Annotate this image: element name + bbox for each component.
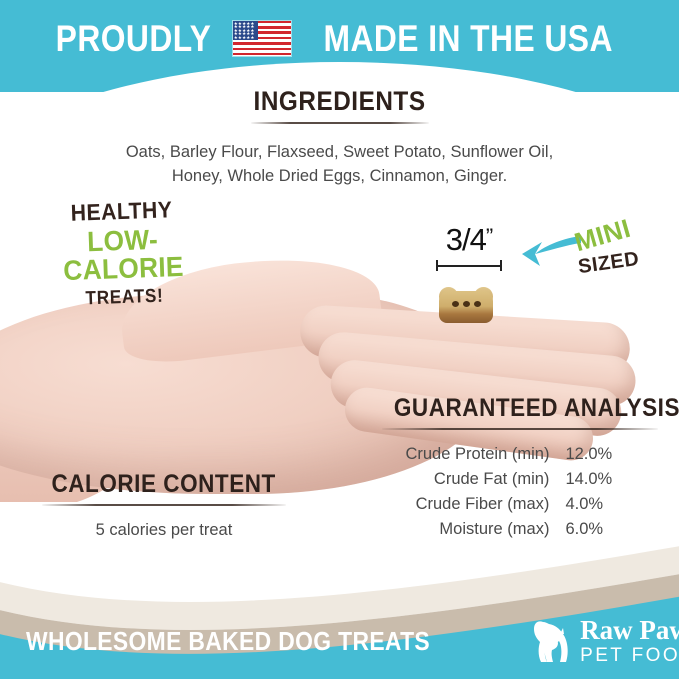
healthy-line-2: LOW-CALORIE — [33, 224, 213, 286]
measurement-value: 3/4” — [432, 224, 506, 255]
analysis-label: Moisture (max) — [378, 517, 565, 542]
inch-mark: ” — [486, 224, 492, 249]
table-row: Moisture (max) 6.0% — [378, 517, 662, 542]
analysis-label: Crude Fat (min) — [378, 467, 565, 492]
brand-name-line: Raw Paws® — [580, 617, 679, 644]
brand-name: Raw Paws — [580, 615, 679, 645]
table-row: Crude Fiber (max) 4.0% — [378, 492, 662, 517]
brand-subtitle: PET FOOD — [580, 645, 679, 666]
ingredients-line-1: Oats, Barley Flour, Flaxseed, Sweet Pota… — [58, 140, 621, 164]
product-info-panel: PROUDLY ★★★★★★★★★★★★★★★★★★★★★★★★★★★★★★★★… — [0, 0, 679, 679]
analysis-value: 14.0% — [565, 467, 662, 492]
analysis-value: 6.0% — [565, 517, 662, 542]
curved-arrow-left-icon — [520, 234, 582, 268]
header-content: PROUDLY ★★★★★★★★★★★★★★★★★★★★★★★★★★★★★★★★… — [0, 12, 679, 64]
header-banner: PROUDLY ★★★★★★★★★★★★★★★★★★★★★★★★★★★★★★★★… — [0, 0, 679, 92]
ingredients-line-2: Honey, Whole Dried Eggs, Cinnamon, Ginge… — [58, 164, 621, 188]
mini-bone-dog-treat — [439, 287, 493, 327]
calorie-content-underline — [42, 504, 286, 506]
header-text-left: PROUDLY — [55, 20, 211, 57]
footer-content: WHOLESOME BAKED DOG TREATS Raw Paws® PET… — [0, 612, 679, 670]
analysis-label: Crude Protein (min) — [378, 442, 565, 467]
guaranteed-analysis-underline — [382, 428, 658, 430]
guaranteed-analysis-section: GUARANTEED ANALYSIS Crude Protein (min) … — [378, 394, 662, 542]
measurement-bar-icon — [436, 260, 502, 270]
ingredients-section: INGREDIENTS Oats, Barley Flour, Flaxseed… — [0, 86, 679, 188]
brand-sub-line: PET FOOD — [580, 646, 679, 665]
ingredients-list: Oats, Barley Flour, Flaxseed, Sweet Pota… — [0, 140, 679, 188]
fraction-denominator: 4 — [470, 222, 486, 257]
fraction-slash: / — [462, 222, 470, 257]
analysis-value: 12.0% — [565, 442, 662, 467]
brand-logo[interactable]: Raw Paws® PET FOOD — [529, 616, 679, 666]
footer-tagline: WHOLESOME BAKED DOG TREATS — [26, 626, 430, 657]
calorie-content-section: CALORIE CONTENT 5 calories per treat — [24, 470, 304, 540]
size-measurement-callout: 3/4” — [432, 224, 506, 270]
treat-hole — [463, 301, 470, 307]
analysis-label: Crude Fiber (max) — [378, 492, 565, 517]
brand-logo-text: Raw Paws® PET FOOD — [580, 617, 679, 665]
mini-sized-callout: MINI SIZED — [520, 222, 660, 284]
ingredients-underline — [251, 122, 429, 124]
table-row: Crude Fat (min) 14.0% — [378, 467, 662, 492]
calorie-content-value: 5 calories per treat — [24, 521, 304, 540]
fraction-numerator: 3 — [446, 222, 462, 257]
treat-hole — [452, 301, 459, 307]
treat-body — [439, 291, 493, 323]
guaranteed-analysis-title: GUARANTEED ANALYSIS — [394, 394, 679, 423]
guaranteed-analysis-table: Crude Protein (min) 12.0% Crude Fat (min… — [378, 442, 662, 542]
healthy-line-1: HEALTHY — [34, 197, 209, 226]
treat-hole — [474, 301, 481, 307]
dog-cat-silhouette-icon — [529, 616, 575, 666]
calorie-content-title: CALORIE CONTENT — [52, 470, 276, 499]
healthy-low-calorie-callout: HEALTHY LOW-CALORIE TREATS! — [26, 197, 220, 311]
table-row: Crude Protein (min) 12.0% — [378, 442, 662, 467]
usa-flag-icon: ★★★★★★★★★★★★★★★★★★★★★★★★★★★★★★★★★★ — [233, 21, 291, 56]
analysis-value: 4.0% — [565, 492, 662, 517]
header-text-right: MADE IN THE USA — [323, 20, 612, 57]
ingredients-title: INGREDIENTS — [253, 86, 425, 117]
